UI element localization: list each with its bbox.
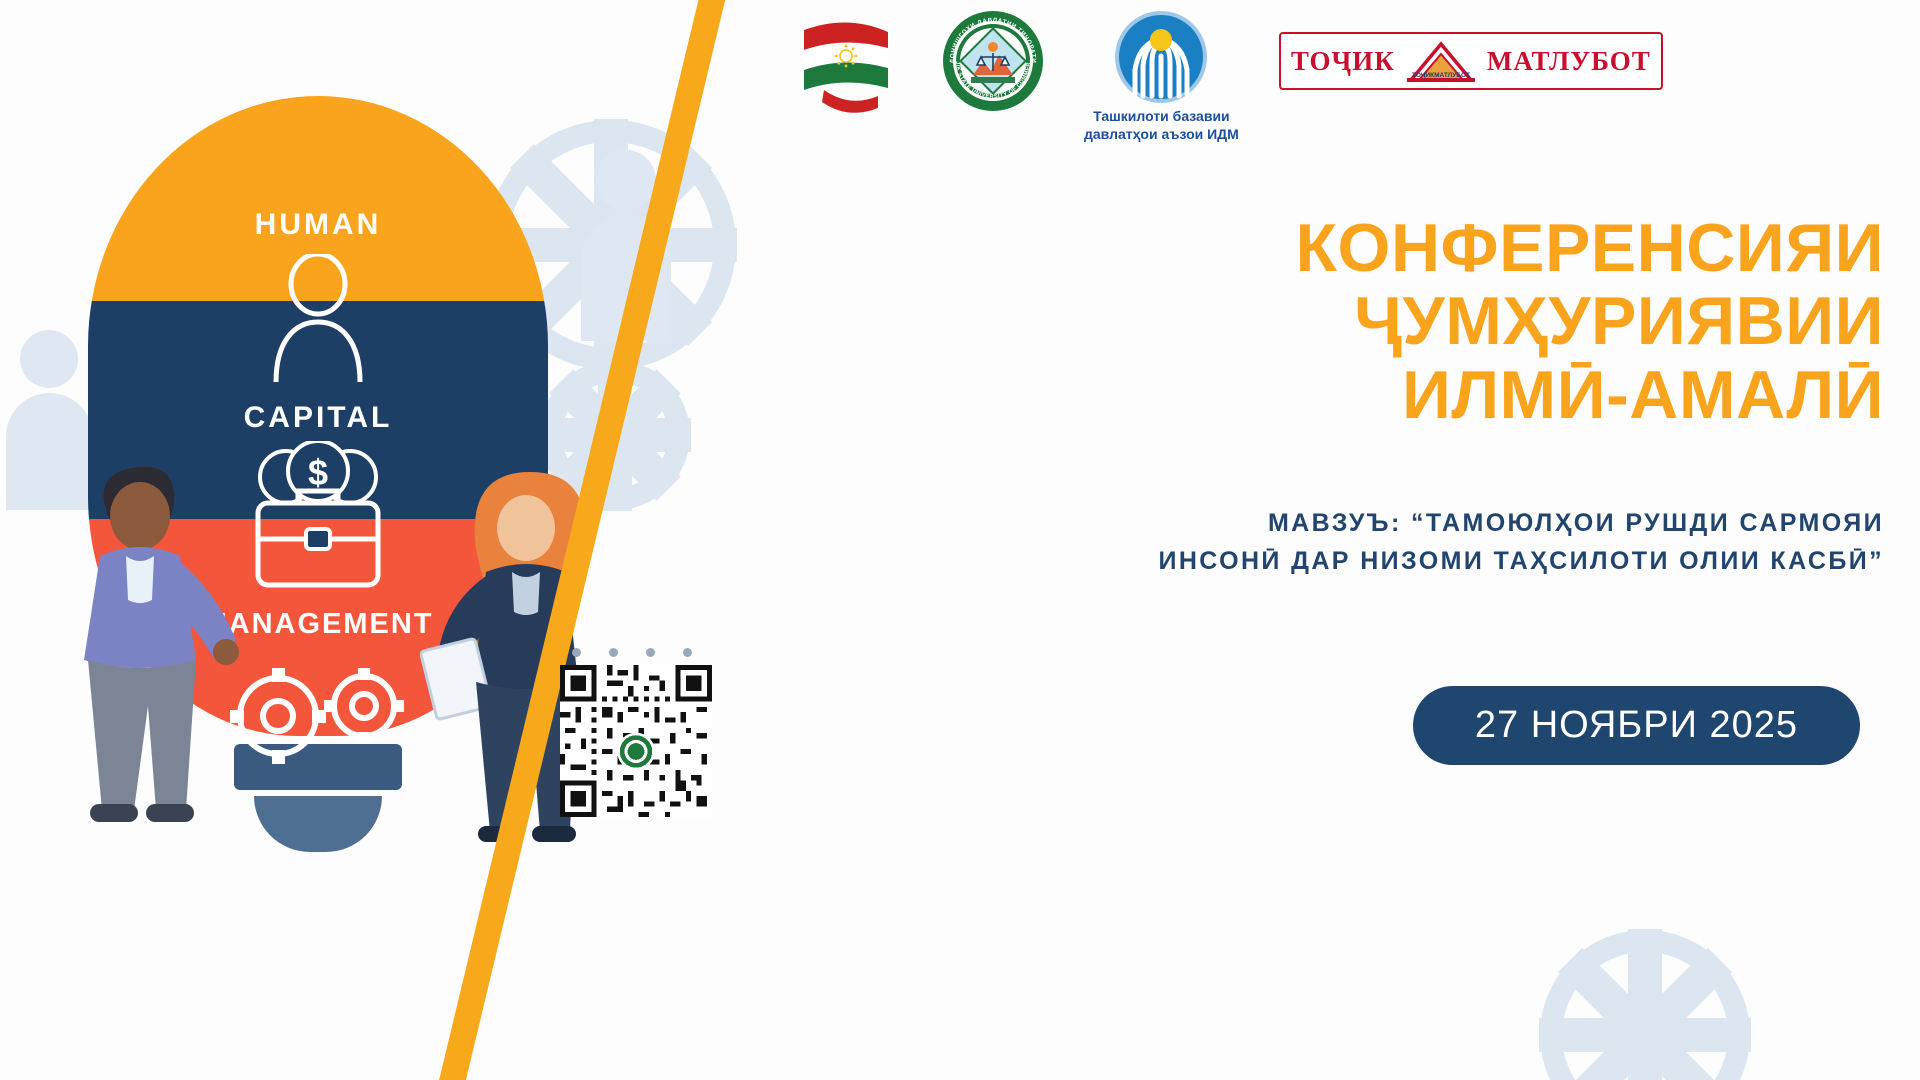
conference-subtitle: МАВЗУЪ: “ТАМОЮЛҲОИ РУШДИ САРМОЯИ ИНСОНӢ …: [1004, 505, 1884, 580]
briefcase-dollar-icon: $: [234, 441, 402, 601]
subtitle-line-2: ИНСОНӢ ДАР НИЗОМИ ТАҲСИЛОТИ ОЛИИ КАСБӢ”: [1004, 543, 1884, 581]
subtitle-line-1: МАВЗУЪ: “ТАМОЮЛҲОИ РУШДИ САРМОЯИ: [1004, 505, 1884, 543]
cis-logo-item: Ташкилоти базавии давлатҳои аъзои ИДМ: [1084, 10, 1239, 143]
title-line-1: КОНФЕРЕНСИЯИ: [1124, 212, 1884, 285]
tojikmatlubot-logo-box: ТОҶИК ТОҶИКМАТЛУБОТ МАТЛУБОТ: [1279, 32, 1663, 90]
label-human: HUMAN: [88, 208, 548, 242]
title-line-2: ҶУМҲУРИЯВИИ: [1124, 285, 1884, 358]
tajikistan-flag-icon: [790, 10, 902, 114]
tajik-state-university-of-commerce-seal-icon: ДОНИШГОҲИ ДАВЛАТИИ ТИҶОРАТИ TAJIK STATE …: [942, 10, 1044, 112]
tojikmatlubot-logo-item: ТОҶИК ТОҶИКМАТЛУБОТ МАТЛУБОТ: [1279, 32, 1663, 90]
gear-watermark-bottom: [1540, 930, 1750, 1080]
title-line-3: ИЛМӢ-АМАЛӢ: [1124, 359, 1884, 432]
cis-caption-line2: давлатҳои аъзои ИДМ: [1084, 126, 1239, 144]
svg-text:ТОҶИКМАТЛУБОТ: ТОҶИКМАТЛУБОТ: [1412, 72, 1470, 79]
person-outline-icon: [262, 254, 374, 382]
university-logo-item: ДОНИШГОҲИ ДАВЛАТИИ ТИҶОРАТИ TAJIK STATE …: [942, 10, 1044, 112]
qr-top-dots: [572, 648, 712, 657]
cis-caption: Ташкилоти базавии давлатҳои аъзои ИДМ: [1084, 108, 1239, 143]
date-badge: 27 НОЯБРИ 2025: [1413, 686, 1860, 765]
tojikmatlubot-word-left: ТОҶИК: [1291, 46, 1395, 77]
qr-code-block[interactable]: [560, 648, 712, 822]
person-illustration-left: [40, 420, 240, 860]
gears-icon: [212, 656, 424, 776]
bulb-base-lower: [254, 796, 382, 852]
flag-logo-item: [790, 10, 902, 114]
svg-text:$: $: [308, 452, 328, 493]
qr-code[interactable]: [560, 665, 712, 817]
tojikmatlubot-mark-icon: ТОҶИКМАТЛУБОТ: [1405, 38, 1477, 84]
logo-row: ДОНИШГОҲИ ДАВЛАТИИ ТИҶОРАТИ TAJIK STATE …: [790, 10, 1663, 140]
tojikmatlubot-word-right: МАТЛУБОТ: [1487, 46, 1651, 77]
cis-emblem-icon: [1114, 10, 1208, 104]
page-title: КОНФЕРЕНСИЯИ ҶУМҲУРИЯВИИ ИЛМӢ-АМАЛӢ: [1124, 212, 1884, 432]
cis-caption-line1: Ташкилоти базавии: [1084, 108, 1239, 126]
conference-poster: HUMAN CAPITAL MANAGEMENT $: [0, 0, 1920, 1080]
